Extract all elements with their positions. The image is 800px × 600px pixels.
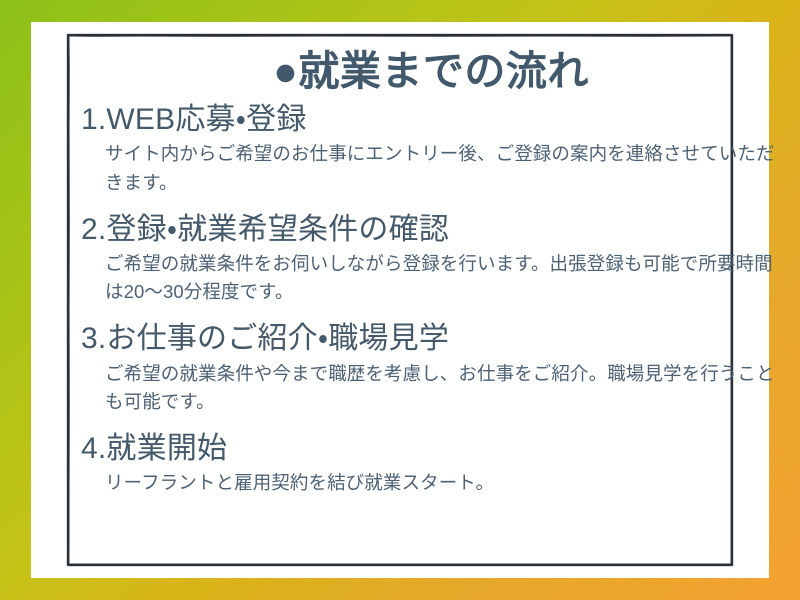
poster-root: ●就業までの流れ 1.WEB応募・登録 サイト内からご希望のお仕事にエントリー後… — [0, 0, 800, 600]
step-body-1: サイト内からご希望のお仕事にエントリー後、ご登録の案内を連絡させていただきます。 — [75, 140, 787, 196]
white-card: ●就業までの流れ 1.WEB応募・登録 サイト内からご希望のお仕事にエントリー後… — [31, 22, 769, 578]
step-body-2: ご希望の就業条件をお伺いしながら登録を行います。出張登録も可能で所要時間は20〜… — [75, 250, 787, 306]
step-item-2: 2.登録・就業希望条件の確認 ご希望の就業条件をお伺いしながら登録を行います。出… — [75, 211, 787, 307]
step-heading-2: 2.登録・就業希望条件の確認 — [75, 211, 787, 249]
step-item-3: 3.お仕事のご紹介・職場見学 ご希望の就業条件や今まで職歴を考慮し、お仕事をご紹… — [75, 320, 787, 416]
content-area: ●就業までの流れ 1.WEB応募・登録 サイト内からご希望のお仕事にエントリー後… — [75, 50, 787, 497]
step-item-4: 4.就業開始 リーフラントと雇用契約を結び就業スタート。 — [75, 430, 787, 498]
step-body-3: ご希望の就業条件や今まで職歴を考慮し、お仕事をご紹介。職場見学を行うことも可能で… — [75, 360, 787, 416]
step-heading-3: 3.お仕事のご紹介・職場見学 — [75, 320, 787, 358]
step-heading-1: 1.WEB応募・登録 — [75, 101, 787, 139]
step-body-4: リーフラントと雇用契約を結び就業スタート。 — [75, 469, 787, 497]
step-item-1: 1.WEB応募・登録 サイト内からご希望のお仕事にエントリー後、ご登録の案内を連… — [75, 101, 787, 197]
page-title: ●就業までの流れ — [75, 50, 787, 93]
step-heading-4: 4.就業開始 — [75, 430, 787, 468]
